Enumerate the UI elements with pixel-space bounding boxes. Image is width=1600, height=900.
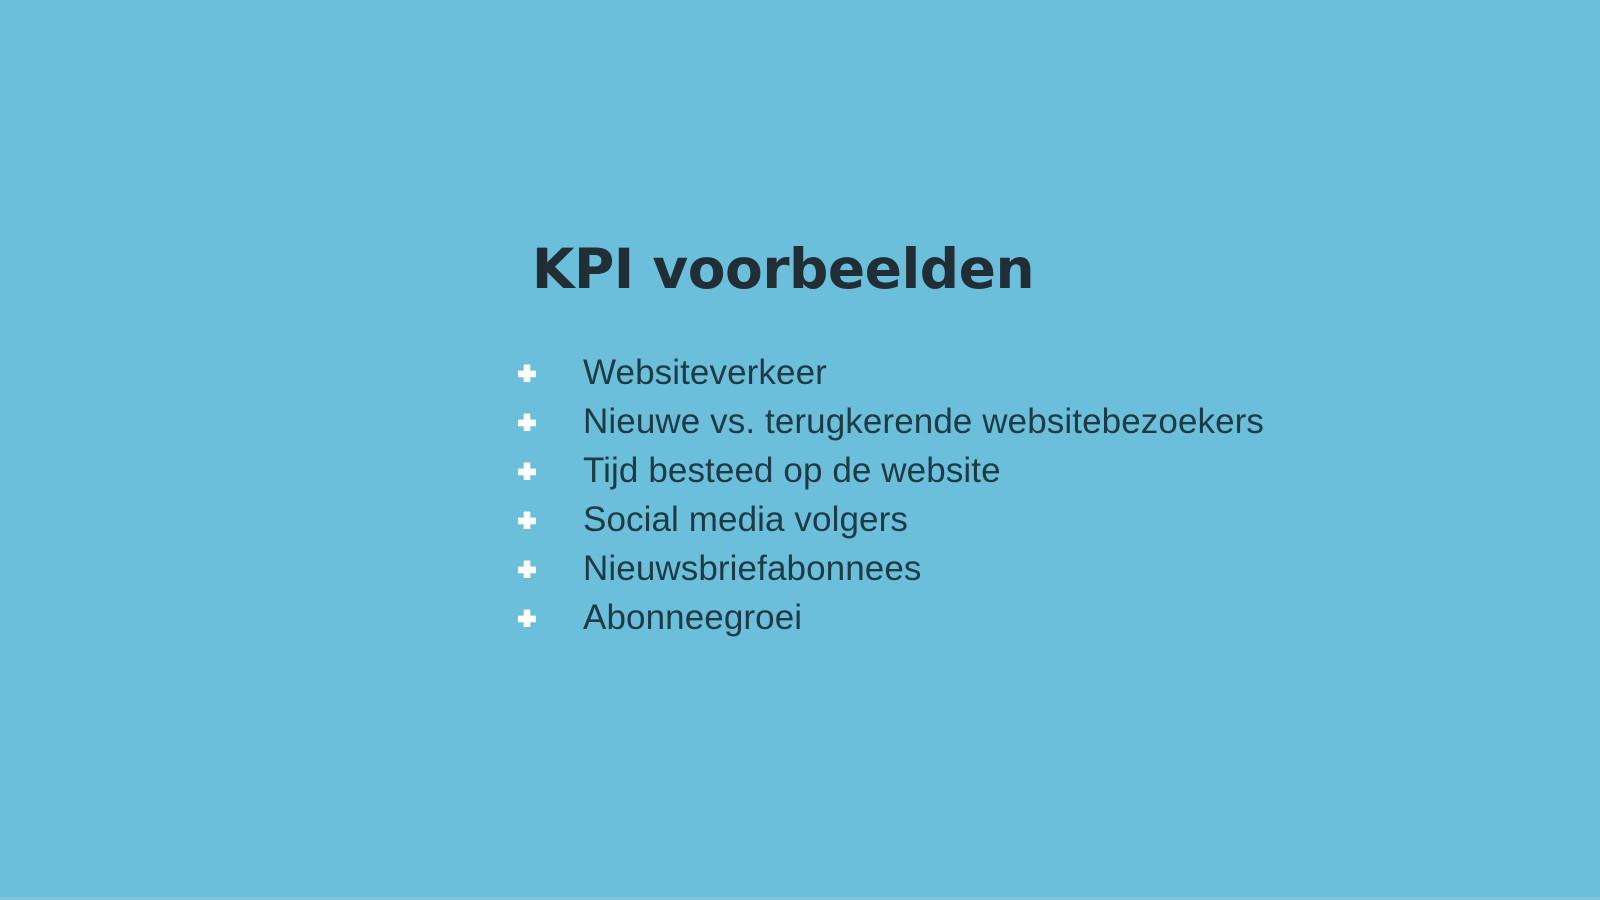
list-item: Social media volgers xyxy=(508,495,1508,544)
list-item-label: Abonneegroei xyxy=(583,598,802,638)
kpi-list: Websiteverkeer Nieuwe vs. terugkerende w… xyxy=(508,348,1508,642)
list-item-label: Nieuwsbriefabonnees xyxy=(583,549,922,589)
list-item-label: Tijd besteed op de website xyxy=(583,451,1001,491)
plus-icon xyxy=(518,413,536,431)
list-item: Nieuwe vs. terugkerende websitebezoekers xyxy=(508,397,1508,446)
list-item-label: Websiteverkeer xyxy=(583,353,827,393)
list-item-label: Nieuwe vs. terugkerende websitebezoekers xyxy=(583,402,1264,442)
page-title: KPI voorbeelden xyxy=(0,233,1566,305)
plus-icon xyxy=(518,364,536,382)
plus-icon xyxy=(518,462,536,480)
list-item: Abonneegroei xyxy=(508,593,1508,642)
list-item: Nieuwsbriefabonnees xyxy=(508,544,1508,593)
list-item: Websiteverkeer xyxy=(508,348,1508,397)
slide-canvas: KPI voorbeelden Websiteverkeer Nieuwe vs… xyxy=(0,0,1600,900)
plus-icon xyxy=(518,609,536,627)
plus-icon xyxy=(518,511,536,529)
plus-icon xyxy=(518,560,536,578)
list-item: Tijd besteed op de website xyxy=(508,446,1508,495)
list-item-label: Social media volgers xyxy=(583,500,908,540)
